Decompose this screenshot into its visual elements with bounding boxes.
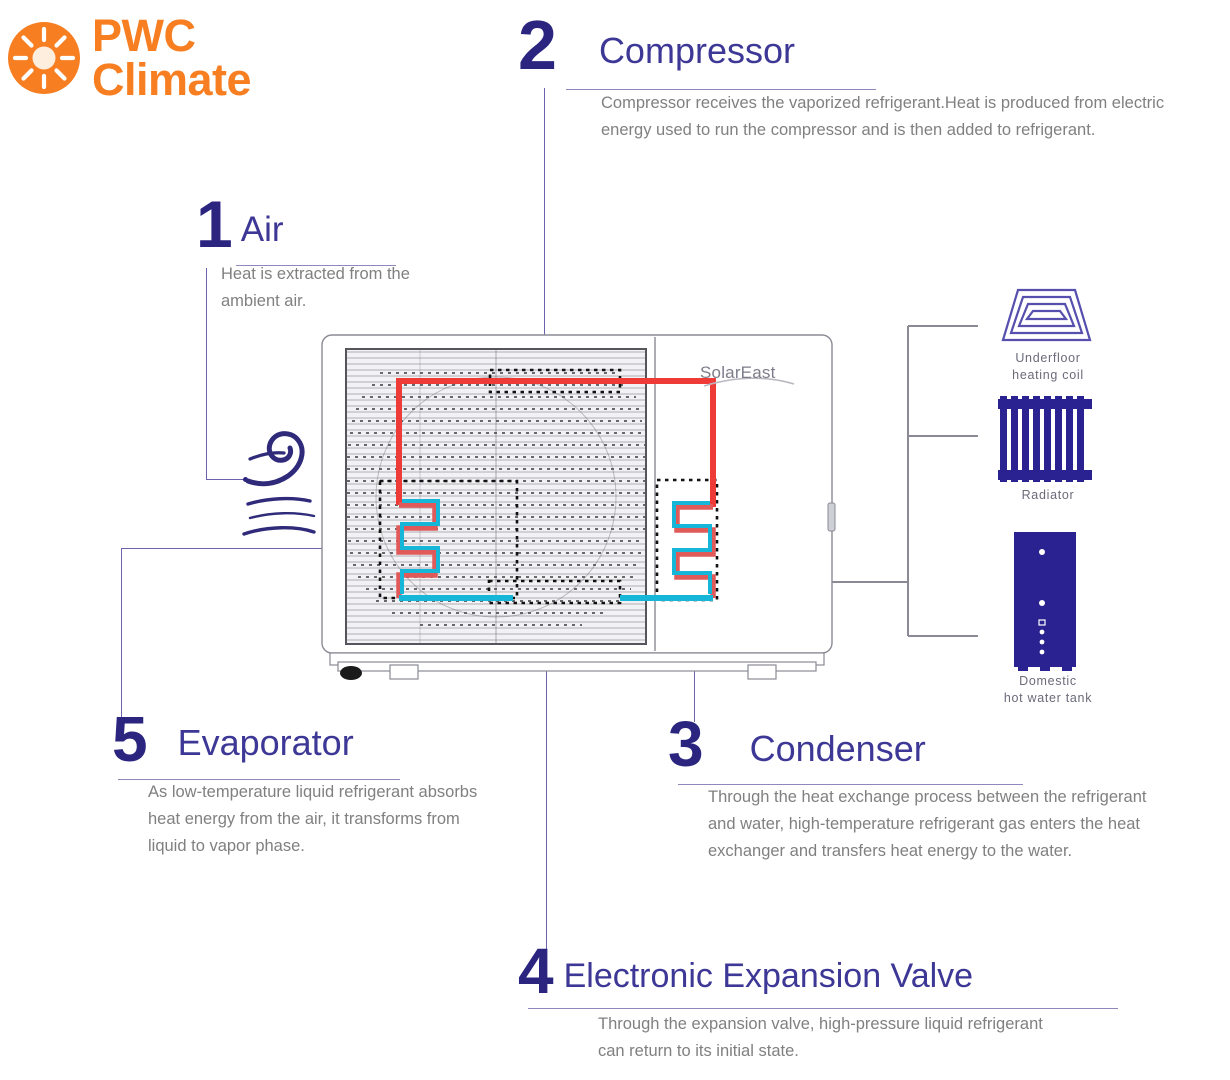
- leader-line-expansion-valve: [546, 596, 547, 949]
- brand-logo: PWC Climate: [8, 14, 251, 102]
- step-condenser-header: 3 Condenser: [668, 718, 1156, 770]
- expansion-valve-marker-box: [489, 581, 620, 603]
- radiator-label: Radiator: [963, 487, 1133, 504]
- leader-line-evaporator-vertical: [121, 548, 122, 718]
- step-expansion-valve-title: Electronic Expansion Valve: [554, 959, 973, 997]
- step-expansion-valve-body: Through the expansion valve, high-pressu…: [598, 1011, 1043, 1064]
- step-condenser: 3 Condenser Through the heat exchange pr…: [668, 718, 1156, 865]
- step-air-title: Air: [233, 212, 284, 251]
- evaporator-grille: [346, 349, 646, 644]
- leader-dot-air: [243, 477, 248, 482]
- step-expansion-valve: 4 Electronic Expansion Valve Through the…: [518, 945, 1043, 1065]
- condenser-marker-box: [657, 480, 717, 600]
- step-compressor-number: 2: [518, 17, 557, 74]
- underfloor-heating-coil-icon: [1003, 290, 1090, 340]
- brand-logo-text: PWC Climate: [92, 14, 251, 102]
- domestic-hot-water-tank-label: Domestic hot water tank: [963, 673, 1133, 707]
- step-evaporator-number: 5: [112, 713, 148, 765]
- sun-icon: [8, 22, 80, 94]
- evaporator-marker-box: [380, 481, 517, 598]
- domestic-hot-water-tank-icon: [1014, 532, 1076, 671]
- step-compressor: 2 Compressor Compressor receives the vap…: [518, 17, 1171, 144]
- step-condenser-number: 3: [668, 718, 704, 770]
- step-air-body: Heat is extracted from the ambient air.: [221, 261, 471, 314]
- step-evaporator-title: Evaporator: [148, 725, 354, 765]
- underfloor-heating-coil-label: Underfloor heating coil: [963, 350, 1133, 384]
- step-compressor-title: Compressor: [557, 33, 795, 74]
- step-compressor-header: 2 Compressor: [518, 17, 1171, 74]
- step-compressor-rule: [566, 89, 876, 90]
- leader-line-air-horizontal: [206, 479, 246, 480]
- step-air-header: 1 Air: [196, 197, 471, 251]
- step-air-number: 1: [196, 197, 233, 251]
- step-expansion-valve-rule: [528, 1008, 1118, 1009]
- leader-dot-compressor: [542, 362, 547, 367]
- solareast-brand-label: SolarEast: [700, 363, 776, 383]
- step-condenser-rule: [678, 784, 1023, 785]
- step-evaporator-header: 5 Evaporator: [112, 713, 488, 765]
- heat-pump-base: [330, 653, 824, 680]
- grille-frame: [346, 349, 646, 644]
- leader-line-evaporator-horizontal: [121, 548, 371, 549]
- step-expansion-valve-number: 4: [518, 945, 554, 997]
- step-air-rule: [236, 265, 396, 266]
- step-expansion-valve-header: 4 Electronic Expansion Valve: [518, 945, 1043, 997]
- leader-dot-expansion-valve: [543, 592, 548, 597]
- step-evaporator-rule: [118, 779, 400, 780]
- leader-line-condenser: [694, 594, 695, 722]
- step-evaporator: 5 Evaporator As low-temperature liquid r…: [112, 713, 488, 860]
- heat-pump-diagram: [0, 0, 1230, 1080]
- step-condenser-body: Through the heat exchange process betwee…: [708, 784, 1156, 864]
- step-compressor-body: Compressor receives the vaporized refrig…: [601, 90, 1171, 143]
- compressor-marker-box: [490, 370, 620, 392]
- output-connector-bracket: [832, 326, 978, 636]
- step-air: 1 Air Heat is extracted from the ambient…: [196, 197, 471, 315]
- leader-dot-condenser: [691, 591, 696, 596]
- evaporator-coil: [399, 501, 438, 598]
- step-evaporator-body: As low-temperature liquid refrigerant ab…: [148, 779, 488, 859]
- infographic-page: PWC Climate: [0, 0, 1230, 1080]
- condenser-coil: [674, 503, 713, 598]
- hot-refrigerant-line: [399, 381, 713, 507]
- airflow-swirl-icon: [244, 434, 314, 534]
- radiator-icon: [998, 396, 1092, 482]
- step-condenser-title: Condenser: [704, 731, 926, 770]
- leader-dot-evaporator: [367, 546, 372, 551]
